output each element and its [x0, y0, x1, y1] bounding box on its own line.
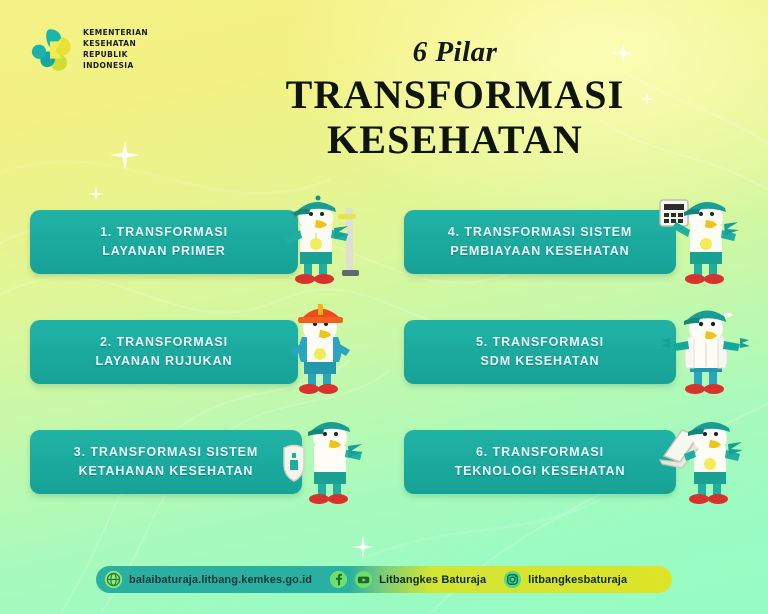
pillar-pill[interactable]: 1. TRANSFORMASI LAYANAN PRIMER — [30, 210, 298, 274]
pillar-label: 3. TRANSFORMASI SISTEM KETAHANAN KESEHAT… — [74, 443, 258, 482]
footer-bar: balaibaturaja.litbang.kemkes.go.id Litba… — [96, 566, 672, 593]
mascot-with-hard-hat — [278, 304, 370, 400]
pillar-item[interactable]: 3. TRANSFORMASI SISTEM KETAHANAN KESEHAT… — [22, 416, 392, 508]
mascot-with-lab-coat — [662, 304, 754, 400]
youtube-icon[interactable] — [354, 570, 373, 589]
sparkle-icon — [110, 140, 140, 170]
mascot-with-calculator — [654, 194, 746, 290]
pillar-pill[interactable]: 6. TRANSFORMASI TEKNOLOGI KESEHATAN — [404, 430, 676, 494]
kemenkes-logo: KEMENTERIAN KESEHATAN REPUBLIK INDONESIA — [24, 24, 148, 76]
pillar-pill[interactable]: 2. TRANSFORMASI LAYANAN RUJUKAN — [30, 320, 298, 384]
pillar-label-line-2: SDM KESEHATAN — [476, 352, 604, 371]
kemenkes-logo-text: KEMENTERIAN KESEHATAN REPUBLIK INDONESIA — [83, 28, 148, 72]
pillar-label-line-2: LAYANAN RUJUKAN — [96, 352, 233, 371]
logo-line-4: INDONESIA — [83, 61, 148, 72]
pillar-label-line-2: KETAHANAN KESEHATAN — [74, 462, 258, 481]
pillar-label: 6. TRANSFORMASI TEKNOLOGI KESEHATAN — [455, 443, 626, 482]
logo-line-1: KEMENTERIAN — [83, 28, 148, 39]
pillar-label-line-1: 1. TRANSFORMASI — [100, 223, 228, 242]
mascot-with-laptop — [658, 414, 750, 510]
pillar-label-line-1: 5. TRANSFORMASI — [476, 333, 604, 352]
logo-line-3: REPUBLIK — [83, 50, 148, 61]
mascot-with-height-measure — [274, 194, 366, 290]
kemenkes-logo-icon — [24, 24, 76, 76]
mascot-with-shield — [280, 414, 372, 510]
pillar-grid: 1. TRANSFORMASI LAYANAN PRIMER — [0, 196, 768, 526]
pillar-label-line-2: LAYANAN PRIMER — [100, 242, 228, 261]
footer: balaibaturaja.litbang.kemkes.go.id Litba… — [0, 554, 768, 614]
pillar-label: 2. TRANSFORMASI LAYANAN RUJUKAN — [96, 333, 233, 372]
pillar-item[interactable]: 1. TRANSFORMASI LAYANAN PRIMER — [22, 196, 392, 288]
pillar-label: 1. TRANSFORMASI LAYANAN PRIMER — [100, 223, 228, 262]
poster-canvas: KEMENTERIAN KESEHATAN REPUBLIK INDONESIA… — [0, 0, 768, 614]
title-eyebrow: 6 Pilar — [170, 38, 740, 67]
pillar-label-line-1: 3. TRANSFORMASI SISTEM — [74, 443, 258, 462]
pillar-item[interactable]: 2. TRANSFORMASI LAYANAN RUJUKAN — [22, 306, 392, 398]
pillar-item[interactable]: 5. TRANSFORMASI SDM KESEHATAN — [396, 306, 766, 398]
facebook-icon[interactable] — [329, 570, 348, 589]
globe-icon[interactable] — [104, 570, 123, 589]
footer-social-name[interactable]: Litbangkes Baturaja — [379, 574, 486, 586]
logo-line-2: KESEHATAN — [83, 39, 148, 50]
page-title: 6 Pilar TRANSFORMASI KESEHATAN — [170, 38, 740, 163]
pillar-pill[interactable]: 3. TRANSFORMASI SISTEM KETAHANAN KESEHAT… — [30, 430, 302, 494]
pillar-label-line-1: 2. TRANSFORMASI — [96, 333, 233, 352]
instagram-icon[interactable] — [503, 570, 522, 589]
pillar-label-line-1: 4. TRANSFORMASI SISTEM — [448, 223, 632, 242]
pillar-label-line-2: TEKNOLOGI KESEHATAN — [455, 462, 626, 481]
pillar-column-left: 1. TRANSFORMASI LAYANAN PRIMER — [22, 196, 392, 526]
pillar-pill[interactable]: 4. TRANSFORMASI SISTEM PEMBIAYAAN KESEHA… — [404, 210, 676, 274]
title-line-1: TRANSFORMASI — [170, 73, 740, 118]
pillar-label: 4. TRANSFORMASI SISTEM PEMBIAYAAN KESEHA… — [448, 223, 632, 262]
pillar-label-line-1: 6. TRANSFORMASI — [455, 443, 626, 462]
pillar-label-line-2: PEMBIAYAAN KESEHATAN — [448, 242, 632, 261]
footer-website[interactable]: balaibaturaja.litbang.kemkes.go.id — [129, 574, 312, 586]
footer-instagram-handle[interactable]: litbangkesbaturaja — [528, 574, 627, 586]
pillar-item[interactable]: 6. TRANSFORMASI TEKNOLOGI KESEHATAN — [396, 416, 766, 508]
pillar-pill[interactable]: 5. TRANSFORMASI SDM KESEHATAN — [404, 320, 676, 384]
title-line-2: KESEHATAN — [170, 118, 740, 163]
pillar-item[interactable]: 4. TRANSFORMASI SISTEM PEMBIAYAAN KESEHA… — [396, 196, 766, 288]
pillar-label: 5. TRANSFORMASI SDM KESEHATAN — [476, 333, 604, 372]
pillar-column-right: 4. TRANSFORMASI SISTEM PEMBIAYAAN KESEHA… — [396, 196, 766, 526]
